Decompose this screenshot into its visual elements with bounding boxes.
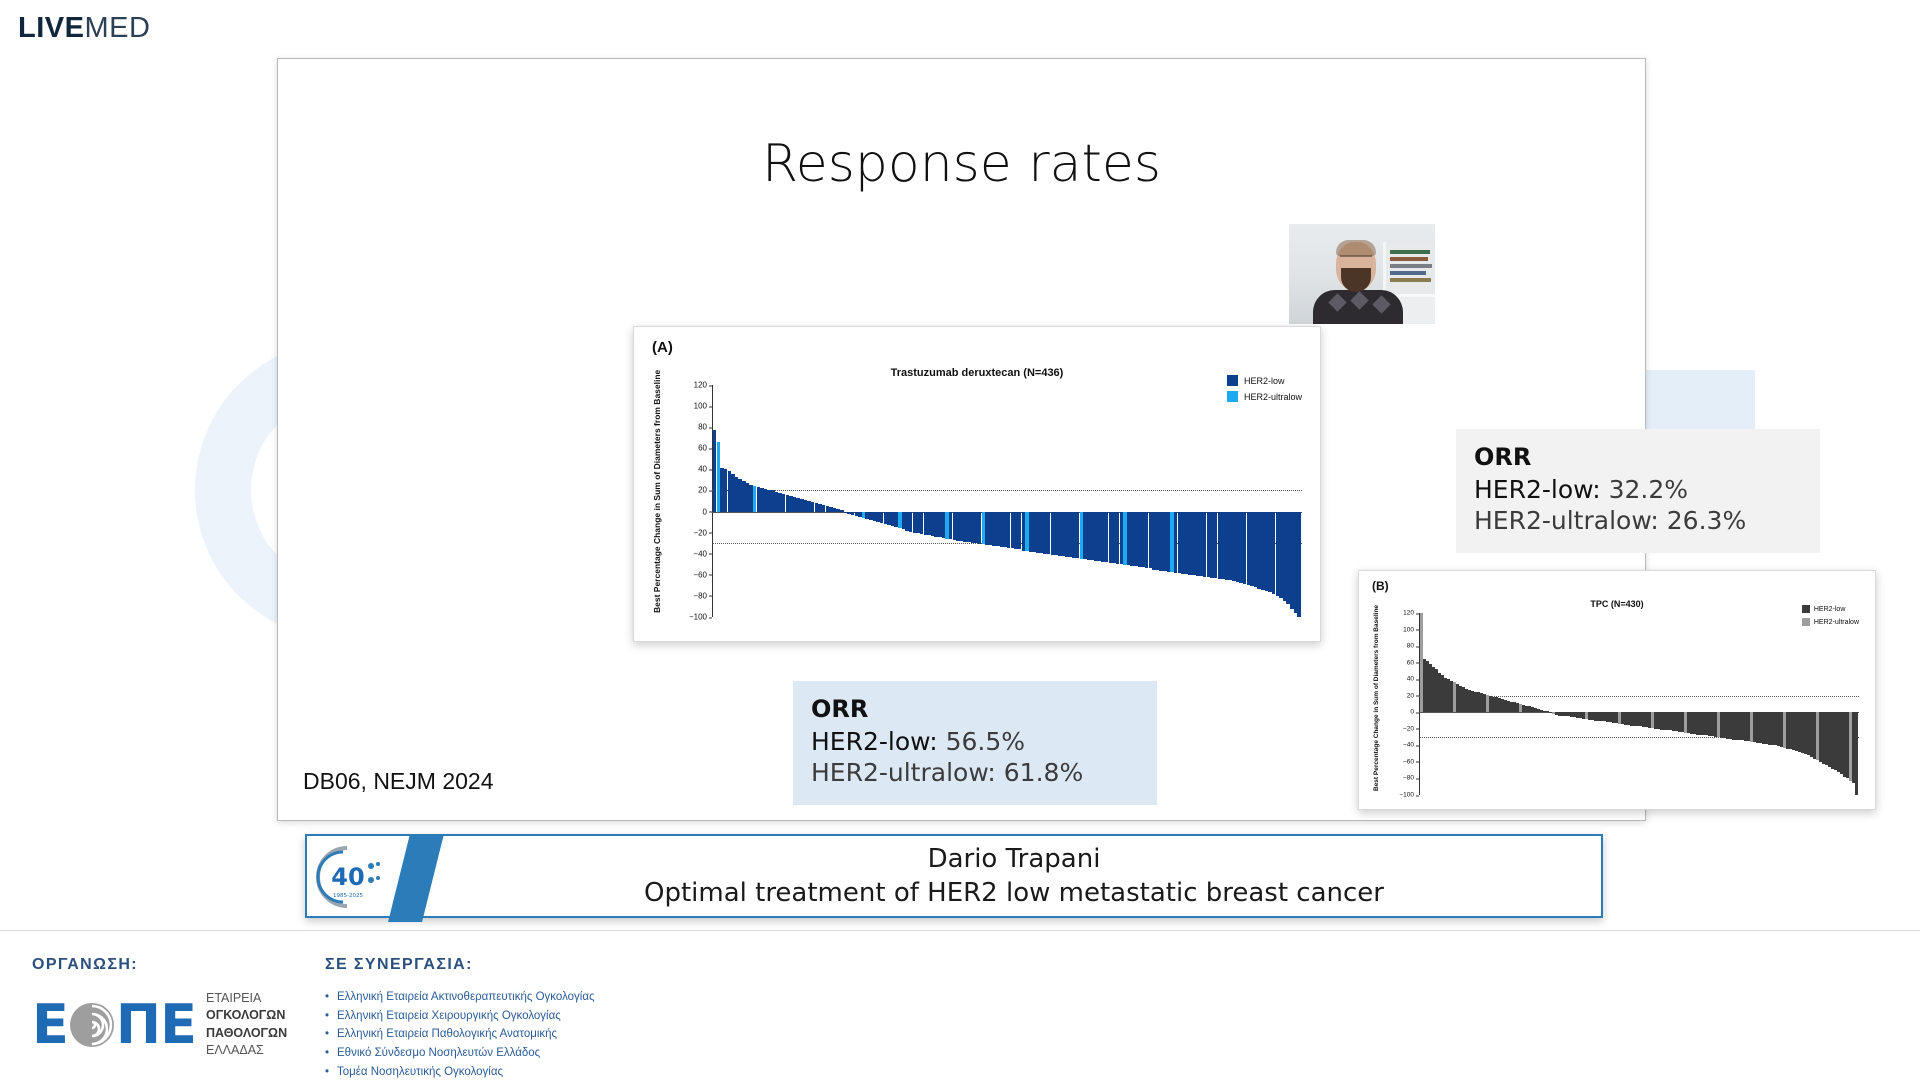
talk-title: Optimal treatment of HER2 low metastatic… [644,878,1384,908]
orr-b-her2-low-key: HER2-low: [1474,475,1609,504]
presentation-slide: Response rates DB06, NEJM 2024 40 1985-2… [277,58,1646,821]
legend-swatch-her2-ultralow [1227,391,1238,402]
eope-letter-1: Ε [32,998,68,1052]
legend-item-her2-low-b: HER2-low [1802,605,1859,613]
y-axis-tick: 100 [694,402,712,411]
sponsor-footer: ΟΡΓΑΝΩΣΗ: Ε Π Ε ΕΤΑΙΡΕΙΑ ΟΓΚΟΛΟΓΩΝ ΠΑΘΟΛ… [0,930,1920,1080]
page-title: Response rates [278,134,1645,194]
webcam-person-glasses [1340,255,1372,262]
organizer-heading: ΟΡΓΑΝΩΣΗ: [32,956,287,974]
list-item: Ελληνική Εταιρεία Ακτινοθεραπευτικής Ογκ… [325,988,625,1007]
list-item: Εθνικό Σύνδεσμο Νοσηλευτών Ελλάδος [325,1044,625,1063]
y-axis-tick: −80 [693,591,712,600]
organizer-block: ΟΡΓΑΝΩΣΗ: Ε Π Ε ΕΤΑΙΡΕΙΑ ΟΓΚΟΛΟΓΩΝ ΠΑΘΟΛ… [32,956,287,1059]
figure-panel-a: (A) Trastuzumab deruxtecan (N=436) Best … [633,326,1321,642]
brand-part-med: MED [84,12,150,44]
slide-citation: DB06, NEJM 2024 [303,768,493,795]
list-item: Ελληνική Εταιρεία Χειρουργικής Ογκολογία… [325,1007,625,1026]
orr-box-tpc: ORR HER2-low: 32.2% HER2-ultralow: 26.3% [1456,429,1820,553]
screen: LIVEMED Response rates DB06, NEJM 2024 4… [0,0,1920,1080]
orr-a-her2-ultralow: HER2-ultralow: 61.8% [811,757,1139,788]
legend-label-her2-low: HER2-low [1244,376,1285,386]
bar-group [1420,613,1859,795]
legend-label-her2-ultralow-b: HER2-ultralow [1814,619,1859,626]
y-axis-tick: −40 [693,549,712,558]
orr-box-trastuzumab: ORR HER2-low: 56.5% HER2-ultralow: 61.8% [793,681,1157,805]
y-axis-tick: 20 [698,486,712,495]
eope-logotype: Ε Π Ε [32,998,196,1052]
eope-sub-line-3: ΠΑΘΟΛΟΓΩΝ [206,1026,287,1040]
panel-b-plot-area: 120100806040200−20−40−60−80−100 [1419,613,1859,795]
orr-b-her2-low-value: 32.2% [1609,475,1688,504]
legend-swatch-her2-low-b [1802,605,1810,613]
webcam-person-hair [1336,240,1376,256]
y-axis-tick: −40 [1403,742,1419,749]
y-axis-tick: 20 [1407,692,1419,699]
speaker-webcam-thumbnail[interactable] [1289,224,1435,324]
y-axis-tick: −100 [1399,792,1419,799]
y-axis-tick: 0 [703,507,712,516]
orr-b-her2-ultralow: HER2-ultralow: 26.3% [1474,505,1802,536]
list-item: Ελληνική Εταιρεία Παθολογικής Ανατομικής [325,1025,625,1044]
panel-a-y-axis-label: Best Percentage Change in Sum of Diamete… [652,389,662,613]
y-axis-tick: 60 [698,444,712,453]
brand-part-live: LIVE [18,12,84,44]
orr-a-her2-low-key: HER2-low: [811,727,946,756]
orr-b-her2-low: HER2-low: 32.2% [1474,474,1802,505]
legend-item-her2-ultralow-b: HER2-ultralow [1802,618,1859,626]
panel-b-legend: HER2-low HER2-ultralow [1802,605,1859,631]
eope-letter-3: Ε [160,998,196,1052]
y-axis-tick: −80 [1403,775,1419,782]
y-axis-tick: 80 [698,423,712,432]
y-axis-tick: 120 [1403,610,1419,617]
cooperation-block: ΣΕ ΣΥΝΕΡΓΑΣΙΑ: Ελληνική Εταιρεία Ακτινοθ… [325,956,625,1080]
legend-item-her2-ultralow: HER2-ultralow [1227,391,1302,402]
y-axis-tick: −60 [693,570,712,579]
webcam-person-body [1313,290,1403,324]
spiral-icon [69,1002,115,1048]
orr-a-her2-low: HER2-low: 56.5% [811,726,1139,757]
cooperation-list: Ελληνική Εταιρεία Ακτινοθεραπευτικής Ογκ… [325,988,625,1080]
legend-label-her2-low-b: HER2-low [1814,606,1846,613]
eope-subtitle: ΕΤΑΙΡΕΙΑ ΟΓΚΟΛΟΓΩΝ ΠΑΘΟΛΟΓΩΝ ΕΛΛΑΔΑΣ [206,990,287,1059]
panel-b-tag: (B) [1372,579,1389,593]
y-axis-tick: 40 [698,465,712,474]
panel-a-title: Trastuzumab deruxtecan (N=436) [634,367,1320,379]
svg-text:1985-2025: 1985-2025 [333,893,363,899]
panel-a-tag: (A) [652,339,673,356]
legend-label-her2-ultralow: HER2-ultralow [1244,392,1302,402]
list-item-sub: Τομέα Νοσηλευτικής Ογκολογίας [325,1063,625,1080]
svg-text:40: 40 [331,863,364,891]
speaker-name: Dario Trapani [928,844,1101,874]
waterfall-bar [1297,512,1300,617]
speaker-banner: 40 1985-2025 Dario Trapani Optimal treat… [305,834,1603,918]
cooperation-heading: ΣΕ ΣΥΝΕΡΓΑΣΙΑ: [325,956,625,974]
y-axis-tick: 0 [1410,709,1419,716]
eope-letter-2: Π [116,998,160,1052]
eope-logo: Ε Π Ε ΕΤΑΙΡΕΙΑ ΟΓΚΟΛΟΓΩΝ ΠΑΘΟΛΟΓΩΝ ΕΛΛΑΔ… [32,990,287,1059]
y-axis-tick: 100 [1403,626,1419,633]
y-axis-tick: −100 [689,613,712,622]
banner-accent-slash [388,834,444,922]
legend-item-her2-low: HER2-low [1227,375,1302,386]
panel-a-plot-area: 120100806040200−20−40−60−80−100 [712,385,1302,617]
y-axis-tick: 40 [1407,676,1419,683]
panel-b-y-axis-label: Best Percentage Change in Sum of Diamete… [1373,613,1380,791]
y-axis-tick: 80 [1407,643,1419,650]
bar-group [713,385,1302,617]
figure-panel-b: (B) TPC (N=430) Best Percentage Change i… [1358,570,1876,810]
y-axis-tick: 60 [1407,659,1419,666]
banner-anniversary-logo: 40 1985-2025 [315,842,389,912]
panel-b-title: TPC (N=430) [1359,599,1875,609]
orr-b-title: ORR [1474,443,1802,471]
eope-sub-line-2: ΟΓΚΟΛΟΓΩΝ [206,1008,285,1022]
orr-a-title: ORR [811,695,1139,723]
legend-swatch-her2-ultralow-b [1802,618,1810,626]
banner-text-block: Dario Trapani Optimal treatment of HER2 … [457,836,1571,916]
panel-a-legend: HER2-low HER2-ultralow [1227,375,1302,407]
waterfall-bar [1855,712,1858,795]
eope-sub-line-4: ΕΛΛΑΔΑΣ [206,1042,287,1059]
eope-sub-line-1: ΕΤΑΙΡΕΙΑ [206,990,287,1007]
y-axis-tick: −20 [1403,725,1419,732]
y-axis-tick: −20 [693,528,712,537]
legend-swatch-her2-low [1227,375,1238,386]
y-axis-tick: 120 [694,381,712,390]
y-axis-tick: −60 [1403,758,1419,765]
orr-a-her2-low-value: 56.5% [946,727,1025,756]
livemed-logo: LIVEMED [18,14,150,43]
